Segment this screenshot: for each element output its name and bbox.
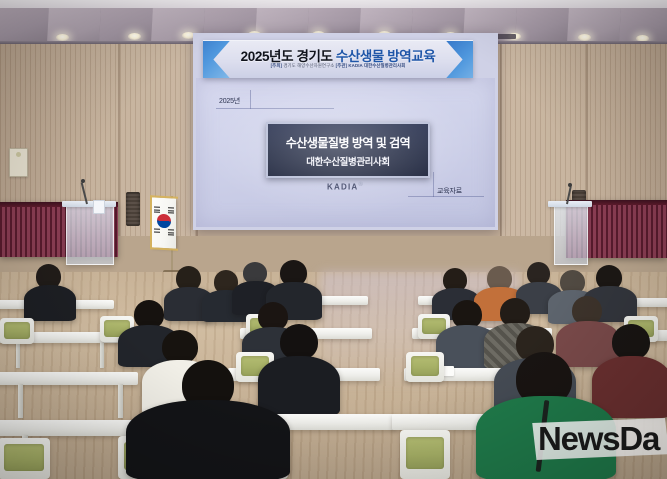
slide-guide-line xyxy=(408,196,484,197)
ceiling-downlight xyxy=(56,34,69,41)
banner-host: 경기도 해양수산자원연구소 xyxy=(282,63,336,68)
ceiling-panel xyxy=(515,8,570,41)
wall-vent xyxy=(126,192,140,226)
chair[interactable] xyxy=(406,352,444,382)
chair[interactable] xyxy=(0,318,34,344)
watermark: NewsDa xyxy=(528,418,667,460)
banner-org: KADIA 대한수산질병관리사회 xyxy=(347,63,405,68)
microphone-right xyxy=(568,183,572,187)
banner-subtitle: [주최] 경기도 해양수산자원연구소 [주관] KADIA 대한수산질병관리사회 xyxy=(203,63,473,69)
ceiling-downlight xyxy=(128,33,141,40)
desk-leg xyxy=(100,342,104,368)
podium-left-card xyxy=(93,200,105,214)
desk-leg xyxy=(118,384,123,418)
chair[interactable] xyxy=(0,438,50,479)
banner-org-label: [주관] xyxy=(336,63,347,68)
ceiling-downlight xyxy=(578,34,591,41)
slide-logo-mark: ® xyxy=(358,182,364,188)
podium-left-top xyxy=(62,201,116,207)
chair[interactable] xyxy=(400,430,450,479)
podium-right xyxy=(554,205,588,265)
wall-control-plate[interactable] xyxy=(9,148,28,177)
slide-year-label: 2025년 xyxy=(219,96,240,106)
banner-host-label: [주최] xyxy=(271,63,282,68)
event-banner: 2025년도 경기도 수산생물 방역교육 [주최] 경기도 해양수산자원연구소 … xyxy=(203,40,473,78)
podium-left xyxy=(66,205,114,265)
banner-title-highlight: 수산생물 방역교육 xyxy=(336,49,436,64)
slide-logo-text: KADIA xyxy=(327,183,358,192)
banner-title-prefix: 2025년도 경기도 xyxy=(241,49,336,64)
wall-seam xyxy=(500,44,502,256)
ceiling-panel xyxy=(99,8,154,41)
ceiling-panel xyxy=(567,8,622,41)
seminar-hall-photo: 2025년도 경기도 수산생물 방역교육 [주최] 경기도 해양수산자원연구소 … xyxy=(0,0,667,479)
slide-guide-line xyxy=(216,108,334,109)
flag-fringe xyxy=(150,195,178,250)
ceiling-panel xyxy=(0,8,50,41)
wall-seam xyxy=(118,44,120,256)
banner-title: 2025년도 경기도 수산생물 방역교육 xyxy=(203,45,473,65)
slide-side-label: 교육자료 xyxy=(437,186,462,196)
watermark-text: NewsDa xyxy=(538,422,659,455)
microphone-left xyxy=(81,179,85,183)
slide-title-line1: 수산생물질병 방역 및 검역 xyxy=(268,134,428,151)
desk-leg xyxy=(16,342,20,368)
slide-guide-line xyxy=(250,90,251,109)
slide-title-line2: 대한수산질병관리사회 xyxy=(268,154,428,168)
podium-right-top xyxy=(548,201,592,207)
desk-leg xyxy=(18,384,23,418)
slide-title-box: 수산생물질병 방역 및 검역 대한수산질병관리사회 xyxy=(266,122,430,178)
